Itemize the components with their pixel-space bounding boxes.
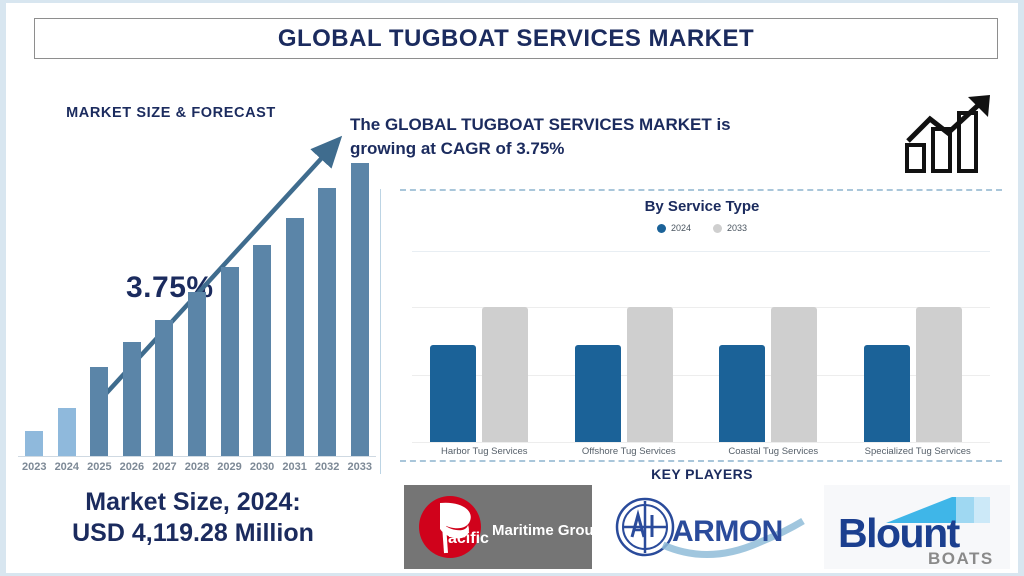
market-size-panel: MARKET SIZE & FORECAST 3.75% 20232024202…	[6, 67, 380, 573]
service-type-chart	[412, 282, 990, 442]
service-type-bar	[916, 307, 962, 442]
service-category-label: Specialized Tug Services	[843, 446, 993, 457]
legend-dot-icon	[657, 224, 666, 233]
legend-dot-icon	[713, 224, 722, 233]
service-type-bar	[864, 345, 910, 442]
market-size-bar	[25, 431, 43, 456]
market-size-bar	[318, 188, 336, 456]
key-players-logos: acific Maritime Group ARMON	[394, 485, 1014, 571]
details-panel: The GLOBAL TUGBOAT SERVICES MARKET is gr…	[380, 67, 1024, 573]
chart-gridline	[412, 442, 990, 443]
year-label: 2033	[344, 461, 376, 473]
service-category-label: Offshore Tug Services	[554, 446, 704, 457]
year-label: 2026	[116, 461, 148, 473]
year-label: 2027	[148, 461, 180, 473]
logo-blount-boats[interactable]: Blount BOATS	[824, 485, 1010, 569]
year-label: 2028	[181, 461, 213, 473]
year-label: 2032	[311, 461, 343, 473]
service-type-legend: 20242033	[380, 223, 1024, 233]
year-label: 2030	[246, 461, 278, 473]
service-type-bar	[627, 307, 673, 442]
market-size-bar	[221, 267, 239, 456]
armon-word: ARMON	[672, 515, 783, 548]
market-size-bar	[253, 245, 271, 456]
market-size-heading: MARKET SIZE & FORECAST	[6, 105, 336, 121]
armon-mark: ARMON	[608, 485, 808, 569]
key-players-title: KEY PLAYERS	[380, 466, 1024, 482]
legend-label: 2033	[727, 223, 747, 233]
service-type-bar	[719, 345, 765, 442]
service-type-bar	[430, 345, 476, 442]
pacific-word: acific	[448, 530, 489, 547]
service-category-label: Coastal Tug Services	[698, 446, 848, 457]
service-category-labels: Harbor Tug ServicesOffshore Tug Services…	[412, 446, 990, 460]
boats-word: BOATS	[928, 549, 994, 568]
market-size-bar	[351, 163, 369, 456]
pacific-maritime-group-mark: acific Maritime Group	[404, 485, 592, 569]
year-label: 2024	[51, 461, 83, 473]
market-size-bar	[123, 342, 141, 456]
market-size-bar	[188, 292, 206, 456]
market-size-bar	[58, 408, 76, 456]
year-axis-labels: 2023202420252026202720282029203020312032…	[18, 461, 376, 477]
service-type-bar	[482, 307, 528, 442]
logo-pacific-maritime-group[interactable]: acific Maritime Group	[404, 485, 592, 569]
year-label: 2031	[279, 461, 311, 473]
market-size-bar	[90, 367, 108, 456]
page-title: GLOBAL TUGBOAT SERVICES MARKET	[278, 25, 754, 53]
separator-top	[400, 189, 1002, 191]
cagr-statement-line2: growing at CAGR of 3.75%	[350, 139, 564, 158]
legend-rule	[412, 251, 990, 252]
market-size-bar	[155, 320, 173, 456]
growth-chart-arrow-icon	[904, 93, 1000, 175]
cagr-statement-line1: The GLOBAL TUGBOAT SERVICES MARKET is	[350, 115, 731, 134]
service-type-title: By Service Type	[380, 198, 1024, 215]
service-type-bar	[771, 307, 817, 442]
legend-item[interactable]: 2033	[713, 223, 747, 233]
year-label: 2029	[214, 461, 246, 473]
legend-label: 2024	[671, 223, 691, 233]
chart-baseline	[18, 456, 376, 457]
market-size-value-line2: USD 4,119.28 Million	[6, 518, 380, 549]
market-size-forecast-chart	[18, 127, 376, 457]
market-size-value-line1: Market Size, 2024:	[6, 487, 380, 518]
market-size-bar	[286, 218, 304, 457]
service-type-bar	[575, 345, 621, 442]
year-label: 2023	[18, 461, 50, 473]
legend-item[interactable]: 2024	[657, 223, 691, 233]
logo-armon[interactable]: ARMON	[608, 485, 808, 569]
page-title-box: GLOBAL TUGBOAT SERVICES MARKET	[34, 18, 998, 59]
market-size-value: Market Size, 2024: USD 4,119.28 Million	[6, 487, 380, 548]
blount-boats-mark: Blount BOATS	[824, 485, 1010, 569]
cagr-statement: The GLOBAL TUGBOAT SERVICES MARKET is gr…	[350, 113, 850, 161]
year-label: 2025	[83, 461, 115, 473]
service-category-label: Harbor Tug Services	[409, 446, 559, 457]
infographic-page: GLOBAL TUGBOAT SERVICES MARKET MARKET SI…	[0, 0, 1024, 576]
separator-bottom	[400, 460, 1002, 462]
maritime-group-word: Maritime Group	[492, 522, 592, 539]
